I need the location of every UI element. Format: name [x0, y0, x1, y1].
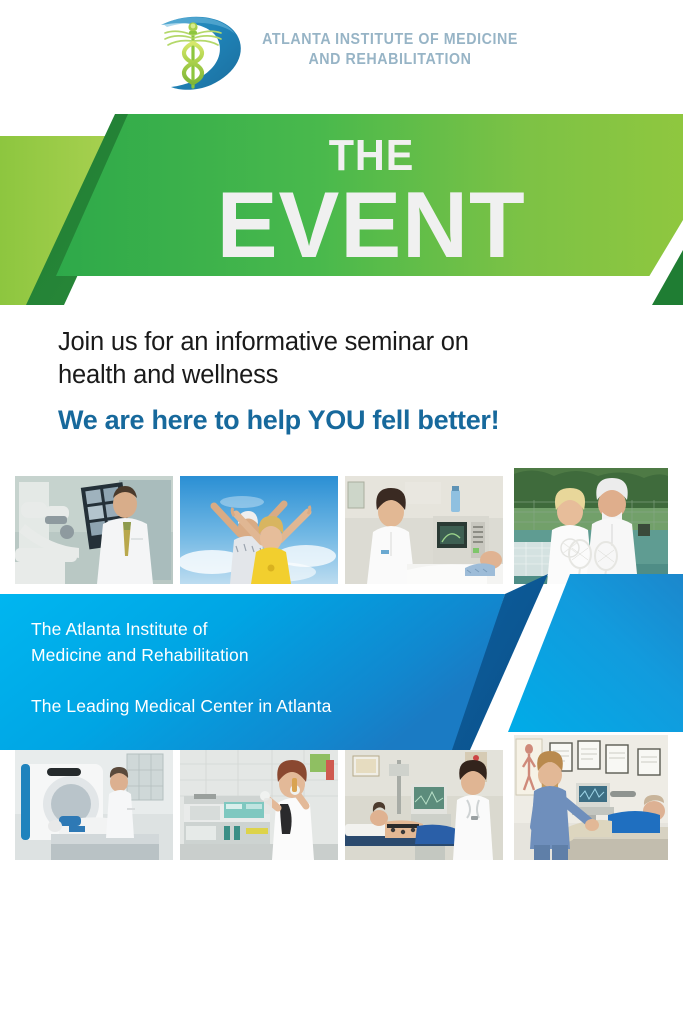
photo-ct-scanner	[15, 750, 173, 860]
event-flyer: ATLANTA INSTITUTE OF MEDICINE AND REHABI…	[0, 0, 683, 1024]
institute-name-line1: The Atlanta Institute of	[31, 616, 531, 642]
intro-line-2: health and wellness	[58, 359, 658, 392]
brand-name-line2: AND REHABILITATION	[263, 50, 519, 70]
brand-name-line1: ATLANTA INSTITUTE OF MEDICINE	[263, 30, 519, 50]
institute-name-line2: Medicine and Rehabilitation	[31, 642, 531, 668]
brand-name: ATLANTA INSTITUTE OF MEDICINE AND REHABI…	[251, 30, 529, 70]
photo-ecg-stress-test	[345, 750, 503, 860]
intro-highlight: We are here to help YOU fell better!	[58, 405, 658, 436]
photo-therapist-treatment	[514, 735, 668, 860]
caduceus-d-logo-icon	[153, 7, 247, 93]
info-blue-banner: The Atlanta Institute of Medicine and Re…	[0, 560, 683, 750]
hero-green-banner: THE EVENT	[0, 100, 683, 305]
intro-line-1: Join us for an informative seminar on	[58, 326, 658, 359]
institute-tagline: The Leading Medical Center in Atlanta	[31, 693, 531, 719]
brand-header: ATLANTA INSTITUTE OF MEDICINE AND REHABI…	[0, 0, 683, 100]
intro-text-block: Join us for an informative seminar on he…	[58, 326, 658, 436]
photo-lab-technician	[180, 750, 338, 860]
blue-banner-text: The Atlanta Institute of Medicine and Re…	[31, 616, 531, 719]
intro-paragraph: Join us for an informative seminar on he…	[58, 326, 658, 391]
green-banner-shapes	[0, 100, 683, 305]
